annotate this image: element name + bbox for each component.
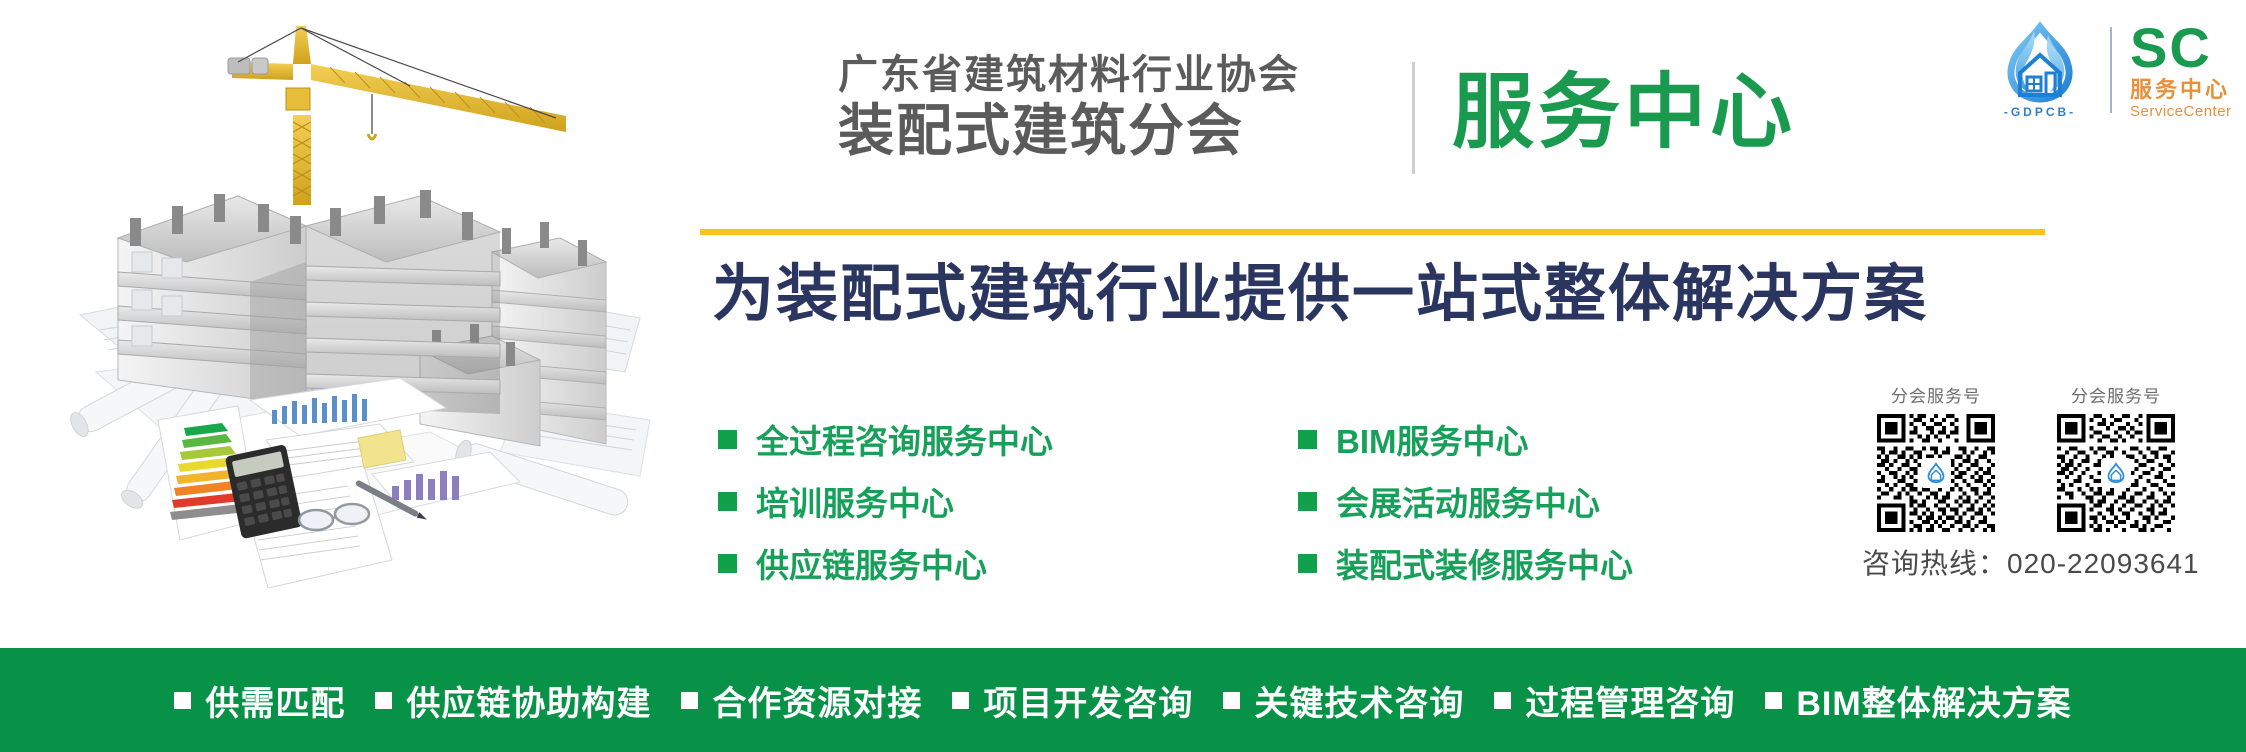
sc-chinese-label: 服务中心	[2130, 77, 2232, 103]
footer-item[interactable]: 项目开发咨询	[952, 676, 1193, 725]
bullet-square-icon	[1765, 692, 1782, 709]
footer-bar: 供需匹配 供应链协助构建 合作资源对接 项目开发咨询 关键技术咨询 过程管理咨询	[0, 648, 2246, 752]
service-list-right: BIM服务中心 会展活动服务中心 装配式装修服务中心	[1298, 408, 1633, 594]
sc-logo-text: SC 服务中心 ServiceCenter	[2130, 18, 2232, 121]
bullet-square-icon	[1298, 554, 1317, 573]
qr-embedded-logo-icon	[2101, 458, 2131, 488]
organization-title: 广东省建筑材料行业协会 装配式建筑分会	[838, 52, 1398, 162]
qr-cell: 分会服务号	[2040, 382, 2192, 532]
footer-item[interactable]: 合作资源对接	[681, 676, 922, 725]
bullet-square-icon	[1494, 692, 1511, 709]
bullet-square-icon	[1223, 692, 1240, 709]
service-label: 会展活动服务中心	[1336, 477, 1600, 525]
footer-item[interactable]: 过程管理咨询	[1494, 676, 1735, 725]
bullet-square-icon	[952, 692, 969, 709]
footer-label: 项目开发咨询	[983, 676, 1193, 725]
qr-code-image-1[interactable]	[1877, 414, 1995, 532]
tagline: 为装配式建筑行业提供一站式整体解决方案	[712, 254, 1928, 336]
hotline-text: 咨询热线：020-22093641	[1860, 542, 2230, 582]
service-list-left: 全过程咨询服务中心 培训服务中心 供应链服务中心	[718, 408, 1053, 594]
qr-caption: 分会服务号	[2040, 382, 2192, 407]
footer-label: BIM整体解决方案	[1796, 676, 2071, 725]
sc-abbr: SC	[2130, 22, 2232, 74]
qr-row: 分会服务号	[1860, 382, 2230, 532]
bullet-square-icon	[681, 692, 698, 709]
service-item[interactable]: 装配式装修服务中心	[1298, 532, 1633, 594]
gdpcb-abbr-label: -GDPCB-	[1988, 105, 2092, 119]
sc-english-label: ServiceCenter	[2130, 103, 2232, 121]
qr-caption: 分会服务号	[1860, 382, 2012, 407]
qr-embedded-logo-icon	[1921, 458, 1951, 488]
service-label: 全过程咨询服务中心	[756, 415, 1053, 463]
service-center-title: 服务中心	[1452, 52, 1796, 174]
gdpcb-logo-mark: -GDPCB-	[1988, 21, 2092, 119]
bullet-square-icon	[718, 492, 737, 511]
footer-label: 供需匹配	[205, 676, 345, 725]
qr-cell: 分会服务号	[1860, 382, 2012, 532]
footer-label: 过程管理咨询	[1525, 676, 1735, 725]
bullet-square-icon	[718, 554, 737, 573]
brand-logo: -GDPCB- SC 服务中心 ServiceCenter	[1988, 18, 2232, 121]
service-item[interactable]: BIM服务中心	[1298, 408, 1633, 470]
footer-label: 供应链协助构建	[406, 676, 651, 725]
bullet-square-icon	[1298, 430, 1317, 449]
title-vertical-divider	[1412, 62, 1415, 174]
qr-section: 分会服务号	[1860, 382, 2230, 582]
bullet-square-icon	[375, 692, 392, 709]
footer-item[interactable]: 供需匹配	[174, 676, 345, 725]
bullet-square-icon	[1298, 492, 1317, 511]
service-label: 供应链服务中心	[756, 539, 987, 587]
service-label: 装配式装修服务中心	[1336, 539, 1633, 587]
service-item[interactable]: 会展活动服务中心	[1298, 470, 1633, 532]
footer-label: 关键技术咨询	[1254, 676, 1464, 725]
service-label: 培训服务中心	[756, 477, 954, 525]
service-item[interactable]: 全过程咨询服务中心	[718, 408, 1053, 470]
footer-items: 供需匹配 供应链协助构建 合作资源对接 项目开发咨询 关键技术咨询 过程管理咨询	[174, 676, 2071, 725]
banner-root: 广东省建筑材料行业协会 装配式建筑分会 服务中心 为装配式建筑行业提供一站式整体…	[0, 0, 2246, 752]
service-label: BIM服务中心	[1336, 415, 1529, 463]
service-item[interactable]: 供应链服务中心	[718, 532, 1053, 594]
gold-divider-line	[700, 229, 2045, 235]
org-name-line2: 装配式建筑分会	[838, 100, 1398, 162]
qr-code-image-2[interactable]	[2057, 414, 2175, 532]
footer-item[interactable]: 供应链协助构建	[375, 676, 651, 725]
bullet-square-icon	[718, 430, 737, 449]
flame-house-icon	[1988, 21, 2092, 107]
footer-label: 合作资源对接	[712, 676, 922, 725]
org-name-line1: 广东省建筑材料行业协会	[838, 52, 1398, 98]
footer-item[interactable]: BIM整体解决方案	[1765, 676, 2071, 725]
service-item[interactable]: 培训服务中心	[718, 470, 1053, 532]
footer-item[interactable]: 关键技术咨询	[1223, 676, 1464, 725]
brand-divider	[2110, 27, 2112, 113]
bullet-square-icon	[174, 692, 191, 709]
construction-hero-image	[0, 0, 660, 650]
